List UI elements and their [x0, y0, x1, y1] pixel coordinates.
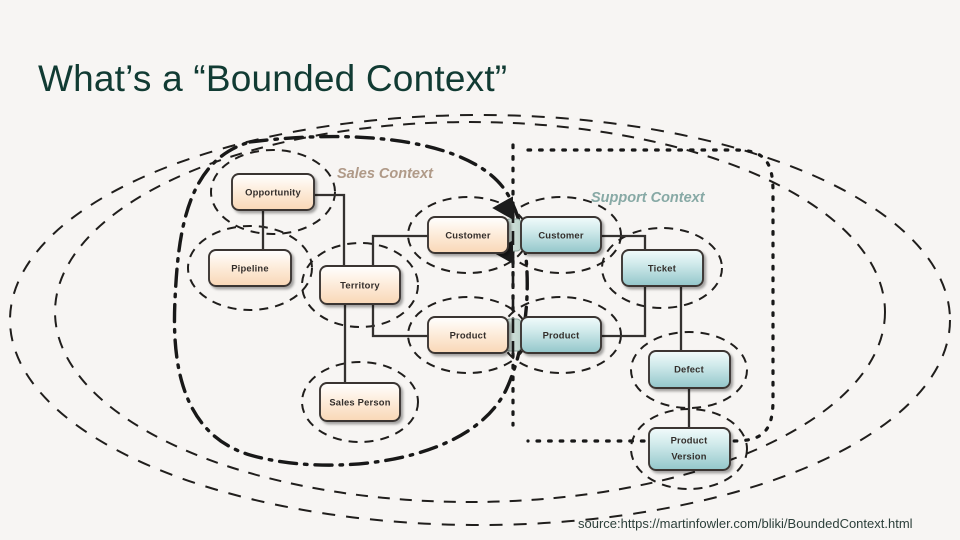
node-label-product-support: Product: [543, 329, 580, 340]
node-product-support[interactable]: Product: [521, 317, 601, 353]
node-label-product-sales: Product: [450, 329, 487, 340]
node-label-customer-support: Customer: [538, 229, 584, 240]
slide: What’s a “Bounded Context”: [0, 0, 960, 540]
edge-territory-customer: [373, 236, 428, 266]
node-label-defect: Defect: [674, 363, 704, 374]
node-pipeline[interactable]: Pipeline: [209, 250, 291, 286]
node-product-version[interactable]: Product Version: [649, 428, 730, 470]
support-context-label: Support Context: [591, 190, 706, 206]
node-customer-sales[interactable]: Customer: [428, 217, 508, 253]
edge-product-ticket: [601, 286, 645, 336]
node-label-product-version-line1: Product: [671, 434, 708, 445]
node-ticket[interactable]: Ticket: [622, 250, 703, 286]
context-envelope: [55, 122, 885, 502]
node-opportunity[interactable]: Opportunity: [232, 174, 314, 210]
node-territory[interactable]: Territory: [320, 266, 400, 304]
source-attribution: source:https://martinfowler.com/bliki/Bo…: [578, 516, 913, 531]
node-sales-person[interactable]: Sales Person: [320, 383, 400, 421]
node-label-sales-person: Sales Person: [329, 396, 390, 407]
bounded-context-diagram: Opportunity Pipeline Territory Sales Per…: [0, 0, 960, 540]
node-label-pipeline: Pipeline: [231, 262, 269, 273]
node-label-territory: Territory: [340, 279, 380, 290]
node-label-customer-sales: Customer: [445, 229, 491, 240]
node-customer-support[interactable]: Customer: [521, 217, 601, 253]
node-label-ticket: Ticket: [648, 262, 676, 273]
node-defect[interactable]: Defect: [649, 351, 730, 388]
node-label-product-version-line2: Version: [671, 450, 706, 461]
edge-territory-product: [373, 304, 428, 336]
node-label-opportunity: Opportunity: [245, 186, 301, 197]
node-product-sales[interactable]: Product: [428, 317, 508, 353]
sales-context-label: Sales Context: [337, 166, 434, 182]
